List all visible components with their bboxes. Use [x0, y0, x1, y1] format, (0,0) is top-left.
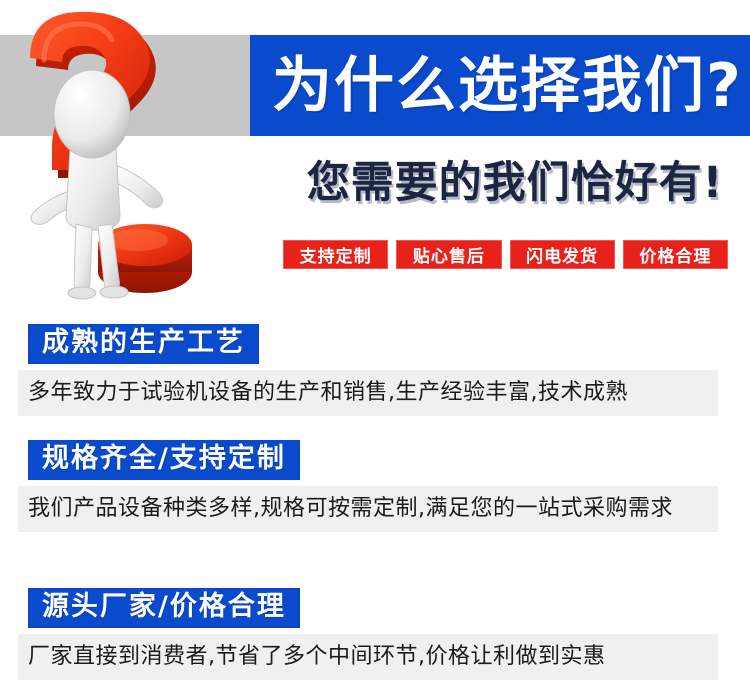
hero-section: 为什么选择我们? 您需要的我们恰好有! 支持定制 贴心售后 闪电发货 价格合理 — [0, 0, 750, 300]
hero-title: 为什么选择我们? — [272, 40, 742, 132]
feature-2-body: 我们产品设备种类多样,规格可按需定制,满足您的一站式采购需求 — [18, 486, 718, 532]
feature-block-2: 规格齐全/支持定制 我们产品设备种类多样,规格可按需定制,满足您的一站式采购需求 — [28, 440, 300, 480]
feature-3-body: 厂家直接到消费者,节省了多个中间环节,价格让利做到实惠 — [18, 634, 718, 680]
promo-banner: 为什么选择我们? 您需要的我们恰好有! 支持定制 贴心售后 闪电发货 价格合理 … — [0, 0, 750, 697]
badge-support-customization[interactable]: 支持定制 — [283, 240, 388, 269]
feature-block-3: 源头厂家/价格合理 厂家直接到消费者,节省了多个中间环节,价格让利做到实惠 — [28, 588, 300, 628]
feature-2-heading: 规格齐全/支持定制 — [28, 440, 300, 480]
badge-fast-shipping[interactable]: 闪电发货 — [510, 240, 615, 269]
features-section: 成熟的生产工艺 多年致力于试验机设备的生产和销售,生产经验丰富,技术成熟 规格齐… — [0, 300, 750, 697]
hero-subtitle: 您需要的我们恰好有! — [285, 152, 745, 214]
question-mark-mascot-illustration — [0, 0, 255, 300]
hero-artwork — [0, 0, 255, 300]
badge-after-sales[interactable]: 贴心售后 — [396, 240, 501, 269]
feature-1-body: 多年致力于试验机设备的生产和销售,生产经验丰富,技术成熟 — [18, 370, 718, 416]
feature-3-heading: 源头厂家/价格合理 — [28, 588, 300, 628]
badge-row: 支持定制 贴心售后 闪电发货 价格合理 — [283, 240, 728, 269]
feature-block-1: 成熟的生产工艺 多年致力于试验机设备的生产和销售,生产经验丰富,技术成熟 — [28, 324, 259, 364]
badge-fair-price[interactable]: 价格合理 — [623, 240, 728, 269]
feature-1-heading: 成熟的生产工艺 — [28, 324, 259, 364]
